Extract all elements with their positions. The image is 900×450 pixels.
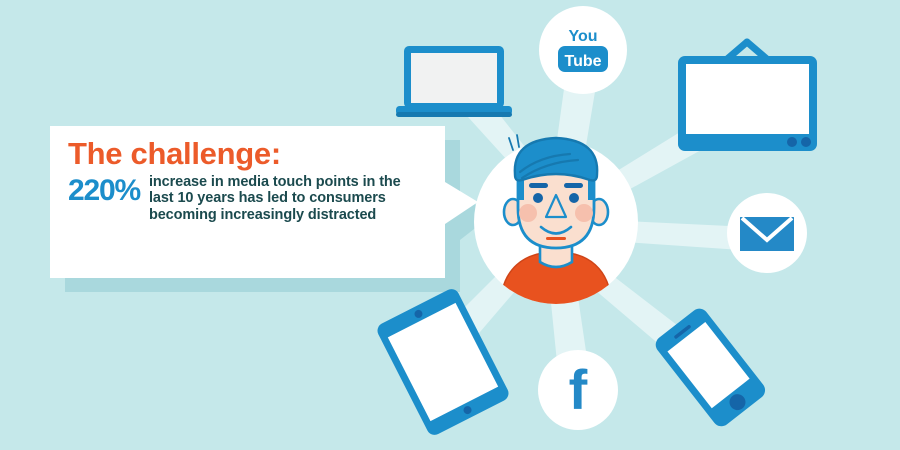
laptop-icon[interactable] (396, 46, 512, 117)
figure-lip (546, 237, 566, 240)
hair-strand-1 (509, 138, 513, 150)
facebook-icon[interactable]: f (538, 350, 618, 430)
tablet-icon[interactable] (375, 286, 511, 437)
smartphone-icon[interactable] (652, 305, 769, 430)
figure-eye-right (569, 193, 579, 203)
hair-strand-2 (517, 135, 519, 147)
media-touchpoints-layer: You Tube (0, 0, 900, 450)
figure-eyebrow-right (564, 183, 583, 188)
tv-indicator-dot-2 (801, 137, 811, 147)
infographic-canvas: The challenge: 220% increase in media to… (0, 0, 900, 450)
facebook-glyph: f (569, 358, 588, 421)
figure-hair (509, 135, 597, 180)
figure-cheek-right (575, 204, 593, 222)
envelope-icon[interactable] (727, 193, 807, 273)
figure-cheek-left (519, 204, 537, 222)
youtube-logo-bottom: Tube (564, 53, 601, 70)
youtube-icon[interactable]: You Tube (539, 6, 627, 94)
tv-indicator-dot-1 (787, 137, 797, 147)
tv-icon[interactable] (678, 42, 817, 151)
figure-eye-left (533, 193, 543, 203)
youtube-logo-top: You (568, 28, 597, 45)
consumer-figure (474, 135, 638, 306)
figure-eyebrow-left (529, 183, 548, 188)
